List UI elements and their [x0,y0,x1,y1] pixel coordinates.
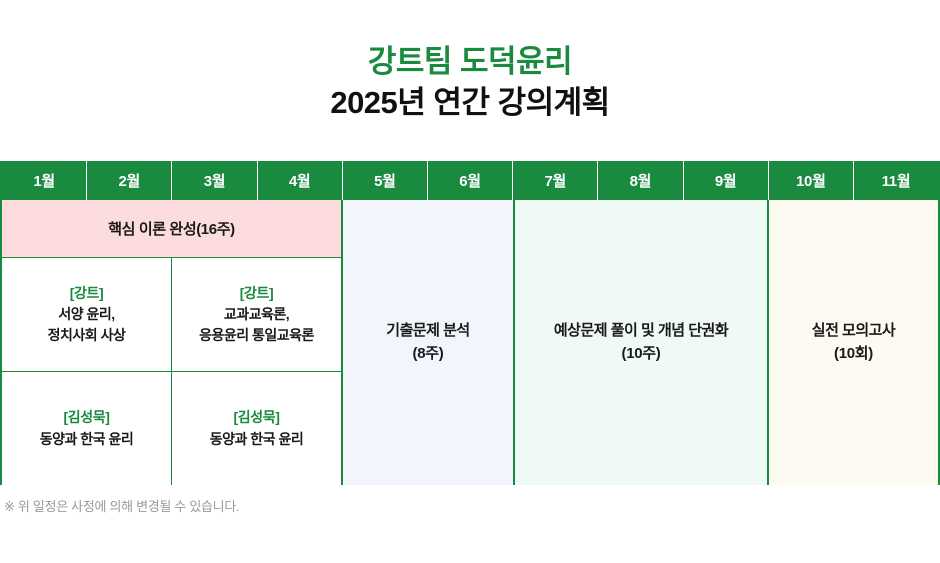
course-grid: [강트] 서양 윤리, 정치사회 사상 [강트] 교과교육론, 응용윤리 통일교… [2,258,341,485]
course-cell-eastern-ethics-a: [김성묵] 동양과 한국 윤리 [2,372,172,485]
month-header-5: 5월 [343,161,428,200]
month-header-1: 1월 [2,161,87,200]
section-mock-exam: 실전 모의고사 (10회) [769,200,938,485]
month-header-7: 7월 [513,161,598,200]
phase-duration: (10회) [834,343,873,366]
schedule-table: 1월 2월 3월 4월 5월 6월 7월 8월 9월 10월 11월 핵심 이론… [0,161,940,485]
page-title: 강트팀 도덕윤리 2025년 연간 강의계획 [0,0,940,124]
course-subject-line1: 동양과 한국 윤리 [210,429,303,450]
course-cell-eastern-ethics-b: [김성묵] 동양과 한국 윤리 [172,372,341,485]
core-theory-banner: 핵심 이론 완성(16주) [2,200,341,258]
footnote-disclaimer: ※ 위 일정은 사정에 의해 변경될 수 있습니다. [4,496,239,515]
course-subject-line1: 서양 윤리, [58,304,114,325]
course-subject-line2: 응용윤리 통일교육론 [199,325,314,346]
month-header-2: 2월 [87,161,172,200]
schedule-body: 핵심 이론 완성(16주) [강트] 서양 윤리, 정치사회 사상 [강트] 교… [2,200,938,485]
teacher-name: [강트] [240,283,273,305]
schedule-page: 강트팀 도덕윤리 2025년 연간 강의계획 1월 2월 3월 4월 5월 6월… [0,0,940,563]
phase-duration: (8주) [413,343,444,366]
phase-title: 기출문제 분석 [386,320,469,343]
phase-title: 예상문제 풀이 및 개념 단권화 [554,320,728,343]
phase-duration: (10주) [622,343,661,366]
month-header-11: 11월 [854,161,938,200]
month-header-8: 8월 [598,161,683,200]
title-subtitle: 2025년 연간 강의계획 [0,82,940,124]
course-cell-western-ethics: [강트] 서양 윤리, 정치사회 사상 [2,258,172,371]
course-subject-line1: 동양과 한국 윤리 [40,429,133,450]
title-brand: 강트팀 도덕윤리 [0,42,940,82]
month-header-4: 4월 [258,161,343,200]
teacher-name: [김성묵] [234,407,280,429]
month-header-9: 9월 [684,161,769,200]
course-subject-line1: 교과교육론, [224,304,289,325]
month-header-row: 1월 2월 3월 4월 5월 6월 7월 8월 9월 10월 11월 [2,161,938,200]
teacher-name: [강트] [70,283,103,305]
section-core-theory: 핵심 이론 완성(16주) [강트] 서양 윤리, 정치사회 사상 [강트] 교… [2,200,343,485]
course-subject-line2: 정치사회 사상 [48,325,126,346]
month-header-6: 6월 [428,161,513,200]
course-row-upper: [강트] 서양 윤리, 정치사회 사상 [강트] 교과교육론, 응용윤리 통일교… [2,258,341,372]
phase-title: 실전 모의고사 [812,320,895,343]
course-row-lower: [김성묵] 동양과 한국 윤리 [김성묵] 동양과 한국 윤리 [2,372,341,485]
section-expected-problems: 예상문제 풀이 및 개념 단권화 (10주) [515,200,769,485]
section-past-exam-analysis: 기출문제 분석 (8주) [343,200,515,485]
month-header-3: 3월 [172,161,257,200]
teacher-name: [김성묵] [64,407,110,429]
course-cell-subject-pedagogy: [강트] 교과교육론, 응용윤리 통일교육론 [172,258,341,371]
month-header-10: 10월 [769,161,854,200]
